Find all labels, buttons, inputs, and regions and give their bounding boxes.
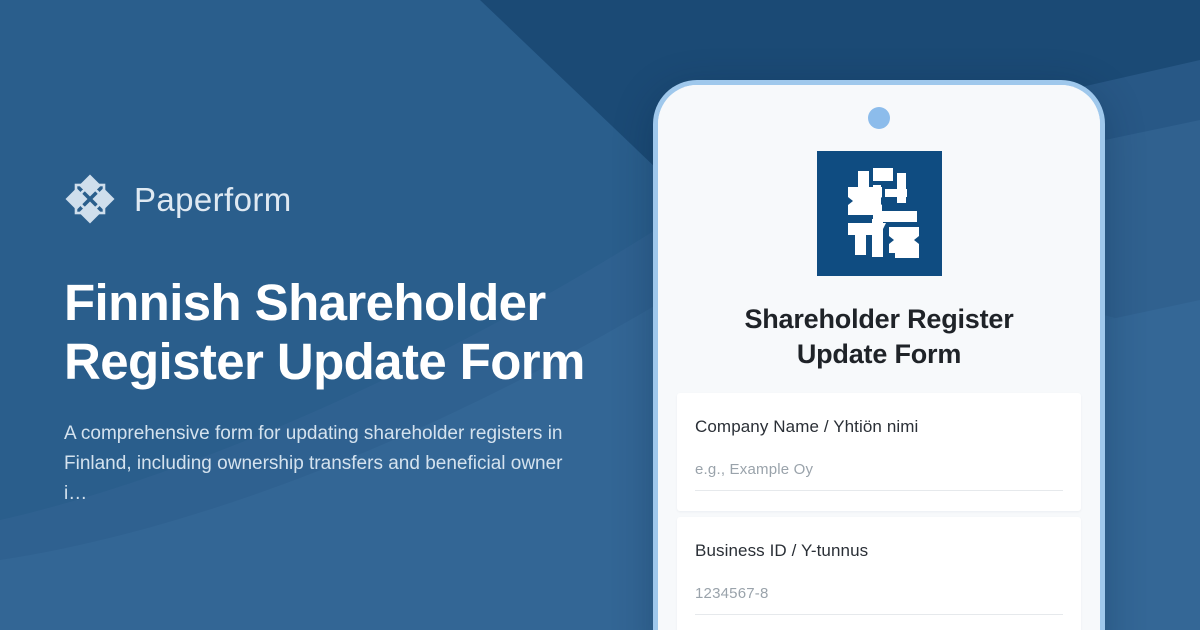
form-field-company-name[interactable]: Company Name / Yhtiön nimi e.g., Example… [677, 393, 1081, 511]
paperform-rosette-icon [64, 173, 116, 225]
front-camera-dot-icon [868, 107, 890, 129]
finnish-register-abstract-logo-icon [817, 151, 942, 276]
paperform-brand-lockup: Paperform [64, 168, 624, 230]
paperform-wordmark: Paperform [134, 183, 292, 216]
phone-screen: Shareholder Register Update Form Company… [658, 85, 1100, 630]
page-title: Finnish Shareholder Register Update Form [64, 274, 604, 391]
field-label: Company Name / Yhtiön nimi [695, 417, 1063, 437]
page-description: A comprehensive form for updating shareh… [64, 419, 564, 509]
form-field-list: Company Name / Yhtiön nimi e.g., Example… [658, 393, 1100, 630]
hero-content: Paperform Finnish Shareholder Register U… [64, 168, 624, 509]
company-name-input[interactable]: e.g., Example Oy [695, 461, 1063, 491]
form-field-business-id[interactable]: Business ID / Y-tunnus 1234567-8 [677, 517, 1081, 630]
og-image-canvas: Paperform Finnish Shareholder Register U… [0, 0, 1200, 630]
field-label: Business ID / Y-tunnus [695, 541, 1063, 561]
form-heading: Shareholder Register Update Form [714, 302, 1044, 371]
phone-mockup: Shareholder Register Update Form Company… [653, 80, 1105, 630]
business-id-input[interactable]: 1234567-8 [695, 585, 1063, 615]
